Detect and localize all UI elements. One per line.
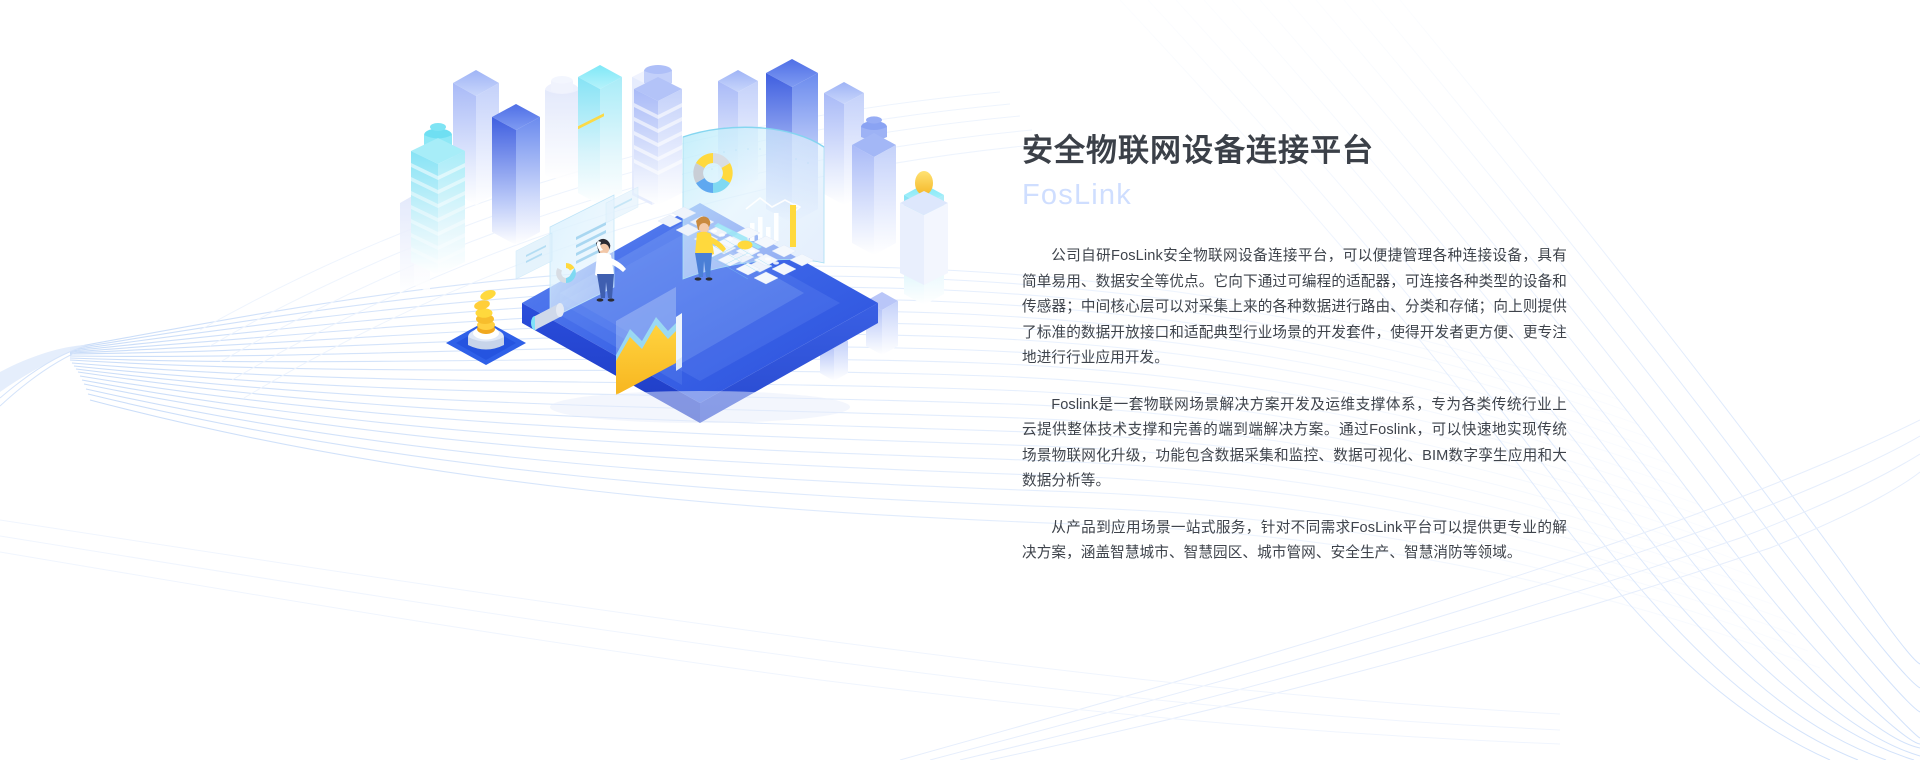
building-tiered-tower-center <box>634 65 682 205</box>
product-name-subtitle: FosLink <box>1022 177 1567 213</box>
paragraph-3: 从产品到应用场景一站式服务，针对不同需求FosLink平台可以提供更专业的解决方… <box>1022 516 1567 567</box>
hero-content: 安全物联网设备连接平台 FosLink 公司自研FosLink安全物联网设备连接… <box>1022 132 1567 567</box>
paragraph-1: 公司自研FosLink安全物联网设备连接平台，可以便捷管理各种连接设备，具有简单… <box>1022 244 1567 372</box>
ghost-round-tower <box>545 76 579 179</box>
background-wave-decoration <box>0 0 1920 760</box>
description-body: 公司自研FosLink安全物联网设备连接平台，可以便捷管理各种连接设备，具有简单… <box>1022 244 1567 567</box>
page-title: 安全物联网设备连接平台 <box>1022 132 1567 171</box>
hero-illustration <box>400 55 960 425</box>
building-cyan-glass-tower <box>578 65 622 205</box>
platform-shadow <box>550 391 850 423</box>
coin-pedestal-right <box>900 171 948 299</box>
paragraph-2: Foslink是一套物联网场景解决方案开发及运维支撑体系，专为各类传统行业上云提… <box>1022 393 1567 495</box>
building-darkblue-slab <box>492 104 540 245</box>
